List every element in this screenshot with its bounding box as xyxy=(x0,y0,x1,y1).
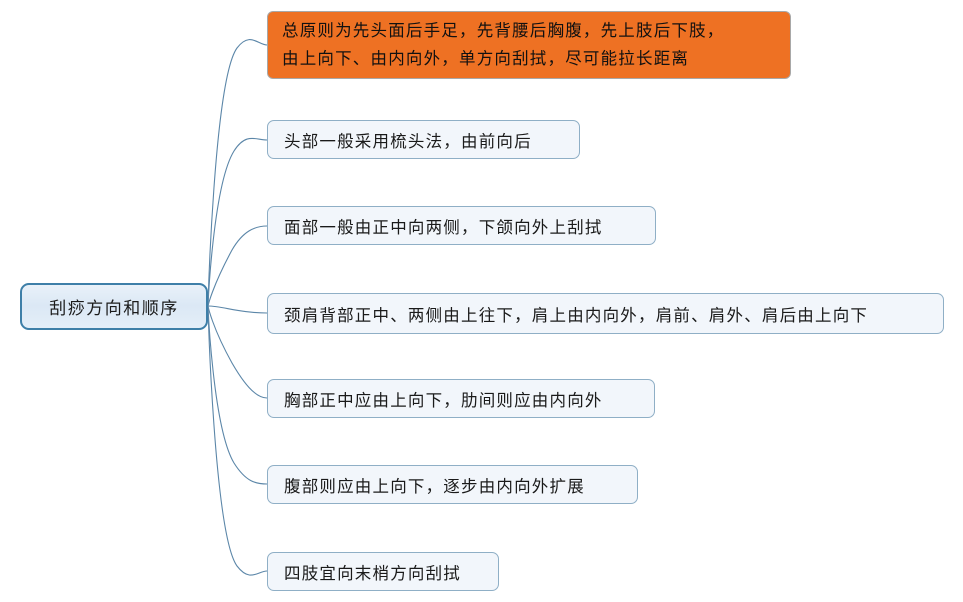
mindmap-node-face[interactable]: 面部一般由正中向两侧，下颌向外上刮拭 xyxy=(267,206,656,245)
connector-to-node-0 xyxy=(208,40,267,306)
mindmap-node-general-principle[interactable]: 总原则为先头面后手足，先背腰后胸腹，先上肢后下肢， 由上向下、由内向外，单方向刮… xyxy=(267,11,791,79)
node-label: 总原则为先头面后手足，先背腰后胸腹，先上肢后下肢， 由上向下、由内向外，单方向刮… xyxy=(268,17,790,73)
connector-to-node-2 xyxy=(208,226,267,306)
connector-to-node-1 xyxy=(208,138,267,306)
connector-to-node-6 xyxy=(208,306,267,575)
mindmap-node-chest[interactable]: 胸部正中应由上向下，肋间则应由内向外 xyxy=(267,379,655,418)
root-node-label: 刮痧方向和顺序 xyxy=(22,294,206,319)
connector-to-node-5 xyxy=(208,306,267,484)
mindmap-node-abdomen[interactable]: 腹部则应由上向下，逐步由内向外扩展 xyxy=(267,465,638,504)
node-label: 四肢宜向末梢方向刮拭 xyxy=(268,560,498,584)
connector-to-node-3 xyxy=(208,306,267,313)
mindmap-root-node[interactable]: 刮痧方向和顺序 xyxy=(20,283,208,330)
connector-to-node-4 xyxy=(208,306,267,398)
mindmap-canvas: 刮痧方向和顺序 总原则为先头面后手足，先背腰后胸腹，先上肢后下肢， 由上向下、由… xyxy=(0,0,963,602)
node-label: 胸部正中应由上向下，肋间则应由内向外 xyxy=(268,387,654,411)
mindmap-node-neck-shoulder-back[interactable]: 颈肩背部正中、两侧由上往下，肩上由内向外，肩前、肩外、肩后由上向下 xyxy=(267,293,944,334)
node-label: 面部一般由正中向两侧，下颌向外上刮拭 xyxy=(268,214,655,238)
mindmap-node-limbs[interactable]: 四肢宜向末梢方向刮拭 xyxy=(267,552,499,591)
mindmap-node-head[interactable]: 头部一般采用梳头法，由前向后 xyxy=(267,120,580,159)
node-label: 腹部则应由上向下，逐步由内向外扩展 xyxy=(268,473,637,497)
node-label: 颈肩背部正中、两侧由上往下，肩上由内向外，肩前、肩外、肩后由上向下 xyxy=(268,302,943,326)
node-label: 头部一般采用梳头法，由前向后 xyxy=(268,128,579,152)
